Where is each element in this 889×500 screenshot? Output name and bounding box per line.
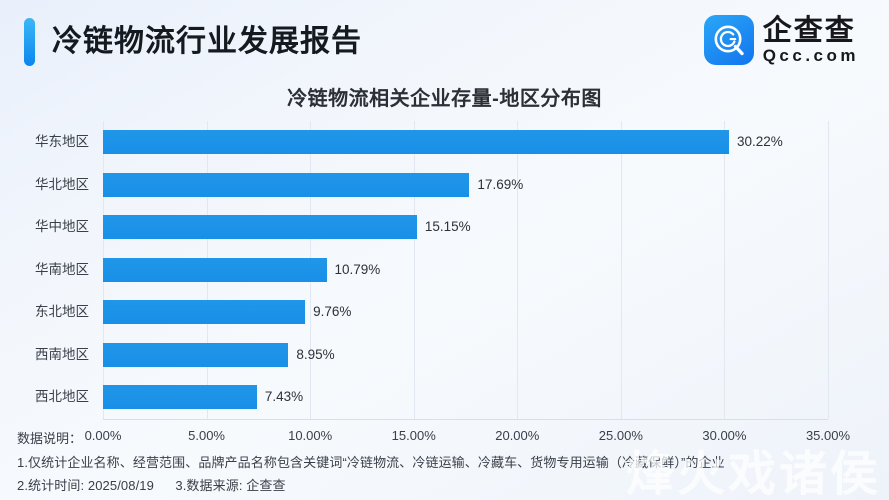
x-axis-tick-label: 10.00%	[288, 428, 332, 443]
chart-title: 冷链物流相关企业存量-地区分布图	[0, 82, 889, 111]
bar-value-label: 9.76%	[313, 301, 351, 323]
y-axis-category-label: 东北地区	[35, 301, 89, 323]
stat-time-label: 2.统计时间:	[17, 478, 84, 493]
data-source-value: 企查查	[246, 478, 285, 493]
chart-bar[interactable]	[103, 385, 257, 409]
chart-row: 华东地区30.22%	[103, 121, 828, 164]
x-axis-tick-label: 35.00%	[806, 428, 850, 443]
y-axis-category-label: 西南地区	[35, 344, 89, 366]
chart-bar[interactable]	[103, 130, 729, 154]
title-accent-bar	[24, 18, 35, 66]
y-axis-category-label: 华东地区	[35, 131, 89, 153]
data-source-label: 3.数据来源:	[175, 478, 242, 493]
chart-row: 华南地区10.79%	[103, 249, 828, 292]
y-axis-category-label: 华北地区	[35, 174, 89, 196]
chart-row: 华北地区17.69%	[103, 164, 828, 207]
x-axis-tick-label: 15.00%	[392, 428, 436, 443]
bar-chart-plot-area: 华东地区30.22%华北地区17.69%华中地区15.15%华南地区10.79%…	[103, 121, 828, 419]
report-canvas: 冷链物流行业发展报告 企查查 Qcc.com 冷链物流相关企业存量-地区分布图 …	[0, 0, 889, 500]
bar-value-label: 10.79%	[335, 259, 381, 281]
chart-bar[interactable]	[103, 173, 469, 197]
bar-value-label: 17.69%	[477, 174, 523, 196]
page-title: 冷链物流行业发展报告	[52, 20, 362, 64]
footnote-meta: 2.统计时间: 2025/08/19 3.数据来源: 企查查	[17, 475, 286, 494]
y-axis-category-label: 华中地区	[35, 216, 89, 238]
bar-value-label: 15.15%	[425, 216, 471, 238]
footnote-methodology: 1.仅统计企业名称、经营范围、品牌产品名称包含关键词“冷链物流、冷链运输、冷藏车…	[17, 452, 725, 471]
x-axis-line	[103, 419, 828, 420]
bar-value-label: 8.95%	[296, 344, 334, 366]
chart-row: 华中地区15.15%	[103, 206, 828, 249]
x-axis-tick-label: 20.00%	[495, 428, 539, 443]
chart-row: 西北地区7.43%	[103, 376, 828, 419]
bar-value-label: 30.22%	[737, 131, 783, 153]
chart-bar[interactable]	[103, 300, 305, 324]
stat-time-value: 2025/08/19	[88, 478, 154, 493]
chart-bar[interactable]	[103, 215, 417, 239]
brand-logo-text: 企查查 Qcc.com	[763, 16, 859, 65]
chart-row: 西南地区8.95%	[103, 334, 828, 377]
x-gridline	[828, 121, 829, 419]
chart-row: 东北地区9.76%	[103, 291, 828, 334]
brand-logo[interactable]: 企查查 Qcc.com	[704, 15, 859, 65]
chart-bar[interactable]	[103, 343, 288, 367]
y-axis-category-label: 华南地区	[35, 259, 89, 281]
qcc-q-logo-icon	[704, 15, 754, 65]
brand-name-en: Qcc.com	[763, 46, 859, 65]
x-axis-tick-label: 0.00%	[85, 428, 122, 443]
x-axis-tick-label: 30.00%	[702, 428, 746, 443]
bar-value-label: 7.43%	[265, 386, 303, 408]
chart-bar[interactable]	[103, 258, 327, 282]
brand-name-cn: 企查查	[763, 16, 859, 46]
data-note-label: 数据说明：	[17, 428, 82, 447]
report-header: 冷链物流行业发展报告 企查查 Qcc.com	[0, 0, 889, 74]
x-axis-tick-label: 5.00%	[188, 428, 225, 443]
y-axis-category-label: 西北地区	[35, 386, 89, 408]
x-axis-tick-label: 25.00%	[599, 428, 643, 443]
